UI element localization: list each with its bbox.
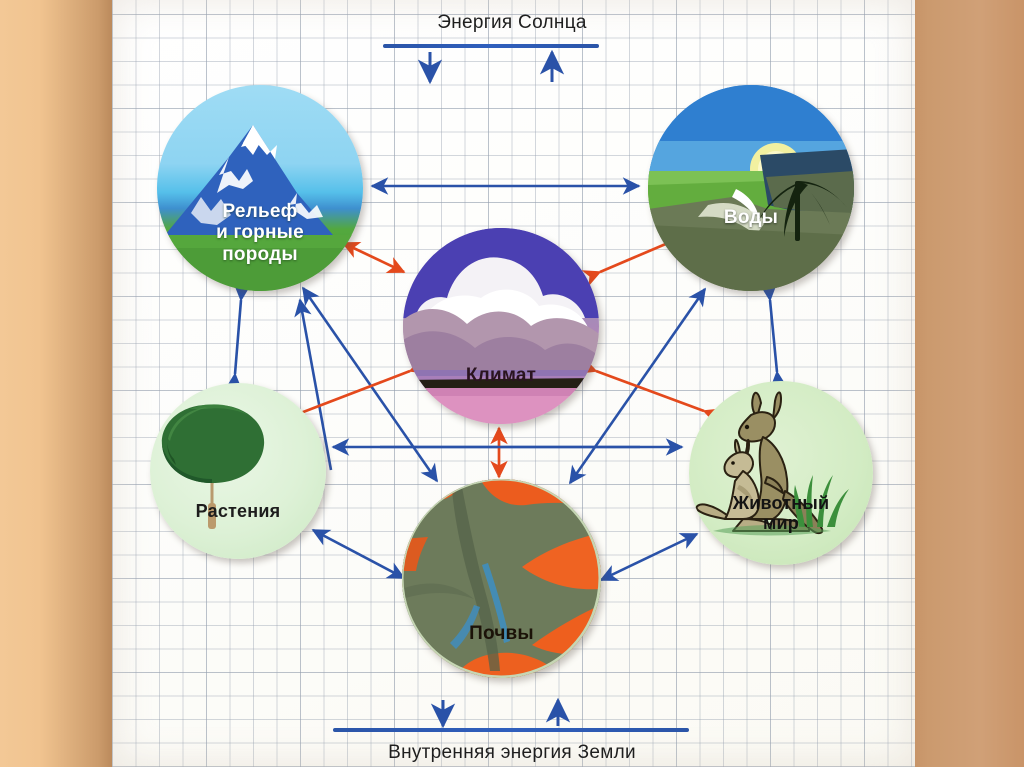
node-animals-label: Животный мир — [689, 493, 873, 533]
node-soils[interactable]: Почвы — [402, 479, 601, 678]
node-relief[interactable]: Рельеф и горные породы — [157, 85, 363, 291]
sun-energy-label: Энергия Солнца — [0, 12, 1024, 34]
node-climate-label: Климат — [403, 365, 599, 386]
diagram-canvas: Рельеф и горные породы — [0, 0, 1024, 767]
node-climate[interactable]: Климат — [403, 228, 599, 424]
river-landscape-icon — [648, 85, 854, 291]
node-water-label: Воды — [648, 207, 854, 228]
tree-icon — [150, 383, 326, 559]
node-water[interactable]: Воды — [648, 85, 854, 291]
node-animals[interactable]: Животный мир — [689, 381, 873, 565]
page-margin-left — [0, 0, 112, 767]
core-energy-rule — [333, 728, 689, 732]
node-relief-label: Рельеф и горные породы — [157, 201, 363, 265]
core-energy-label: Внутренняя энергия Земли — [0, 742, 1024, 764]
kangaroo-icon — [689, 381, 873, 565]
node-plants[interactable]: Растения — [150, 383, 326, 559]
clouds-icon — [403, 228, 599, 424]
sun-energy-rule — [383, 44, 599, 48]
node-plants-label: Растения — [150, 501, 326, 521]
node-soils-label: Почвы — [402, 623, 601, 644]
soil-map-icon — [402, 479, 601, 678]
page-margin-right — [915, 0, 1024, 767]
